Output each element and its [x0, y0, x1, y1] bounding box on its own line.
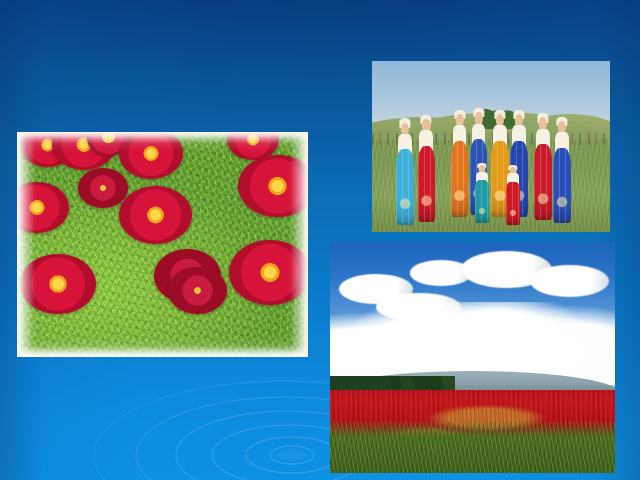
folk-figure-adult [451, 114, 469, 217]
peony-bloom [238, 155, 308, 218]
peony-photo-canvas [17, 132, 308, 357]
folk-sarafan [534, 144, 551, 220]
peony-bloom [119, 186, 192, 244]
peony-bloom [78, 168, 127, 208]
folk-sarafan [506, 182, 521, 225]
folk-photo-canvas [372, 61, 610, 232]
peony-bloom [229, 240, 308, 305]
folk-dancers-photo[interactable] [372, 61, 610, 232]
folk-figure-adult [553, 121, 571, 224]
folk-sarafan [475, 180, 490, 223]
folk-sarafan [451, 141, 468, 217]
poppy-foreground-grass [330, 422, 615, 473]
folk-sarafan [418, 146, 435, 222]
folk-figure-adult [396, 123, 414, 226]
peony-bloom [168, 267, 226, 314]
peony-bloom [20, 254, 96, 315]
folk-figure-child [505, 167, 520, 225]
folk-figure-child [474, 165, 489, 223]
folk-figure-adult [534, 117, 552, 220]
folk-sarafan [553, 148, 570, 224]
folk-sarafan [396, 149, 413, 225]
poppy-field-photo[interactable] [330, 242, 615, 473]
slide-canvas [0, 0, 640, 480]
folk-figure-adult [417, 119, 435, 222]
peony-field-photo[interactable] [17, 132, 308, 357]
poppy-photo-canvas [330, 242, 615, 473]
peony-bloom [119, 132, 183, 179]
